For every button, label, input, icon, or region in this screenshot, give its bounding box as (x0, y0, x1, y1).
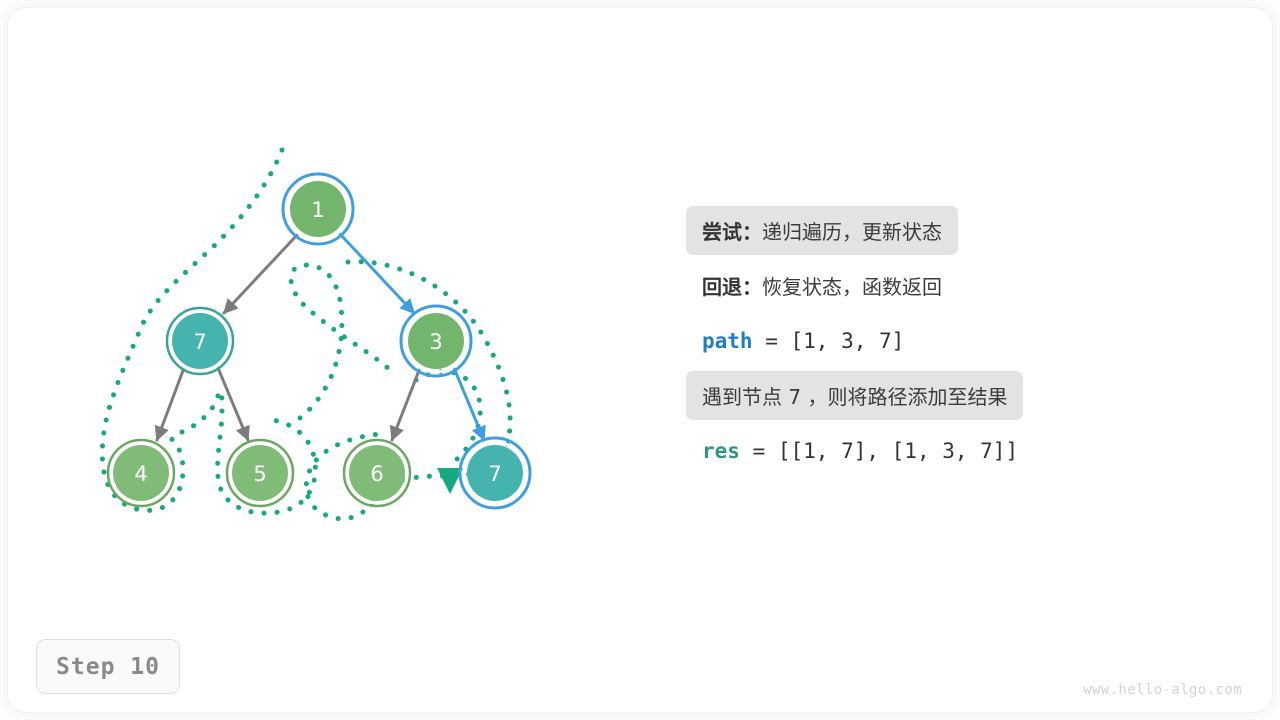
path-equals: = (753, 329, 791, 353)
tree-node-6-label: 6 (370, 462, 383, 486)
tree-node-6[interactable]: 6 (344, 440, 410, 506)
tree-node-1-label: 1 (311, 198, 324, 222)
edge-1-7L (224, 234, 298, 313)
backtrack-text: 恢复状态，函数返回 (762, 271, 942, 300)
backtrack-label: 回退： (702, 271, 762, 300)
watermark: www.hello-algo.com (1083, 682, 1242, 698)
tree-node-4-label: 4 (134, 462, 147, 486)
res-equals: = (740, 439, 778, 463)
tree-node-7-left[interactable]: 7 (167, 308, 233, 374)
path-value: [1, 3, 7] (791, 329, 905, 353)
try-line: 尝试： 递归遍历，更新状态 (686, 206, 958, 255)
tree-node-3-label: 3 (429, 330, 442, 354)
tree-node-5-label: 5 (253, 462, 266, 486)
res-value: [[1, 7], [1, 3, 7]] (778, 439, 1018, 463)
edge-7L-5 (218, 368, 248, 440)
screenshot-frame: 1 7 3 4 5 (0, 0, 1280, 720)
edge-7L-4 (157, 368, 184, 440)
tree-node-7-left-label: 7 (193, 330, 206, 354)
note-line: 遇到节点 7 ，则将路径添加至结果 (686, 371, 1023, 420)
tree-node-3[interactable]: 3 (401, 306, 471, 376)
edge-1-3 (340, 234, 414, 313)
tree-node-7-right[interactable]: 7 (460, 438, 530, 508)
tree-node-4[interactable]: 4 (108, 440, 174, 506)
tree-node-1[interactable]: 1 (283, 174, 353, 244)
note-text: 遇到节点 7 ，则将路径添加至结果 (702, 381, 1007, 410)
step-badge: Step 10 (36, 639, 180, 694)
explanation-panel: 尝试： 递归遍历，更新状态 回退： 恢复状态，函数返回 path = [1, 3… (686, 206, 1206, 481)
edge-3-6 (392, 368, 420, 440)
step-badge-label: Step 10 (56, 654, 160, 680)
res-variable: res (702, 439, 740, 463)
tree-node-7-right-label: 7 (488, 462, 501, 486)
edge-3-7R (454, 368, 484, 440)
backtrack-line: 回退： 恢复状态，函数返回 (686, 261, 958, 310)
res-line: res = [[1, 7], [1, 3, 7]] (686, 426, 1034, 475)
path-variable: path (702, 329, 753, 353)
path-line: path = [1, 3, 7] (686, 316, 920, 365)
tree-node-5[interactable]: 5 (227, 440, 293, 506)
try-label: 尝试： (702, 216, 762, 245)
try-text: 递归遍历，更新状态 (762, 216, 942, 245)
